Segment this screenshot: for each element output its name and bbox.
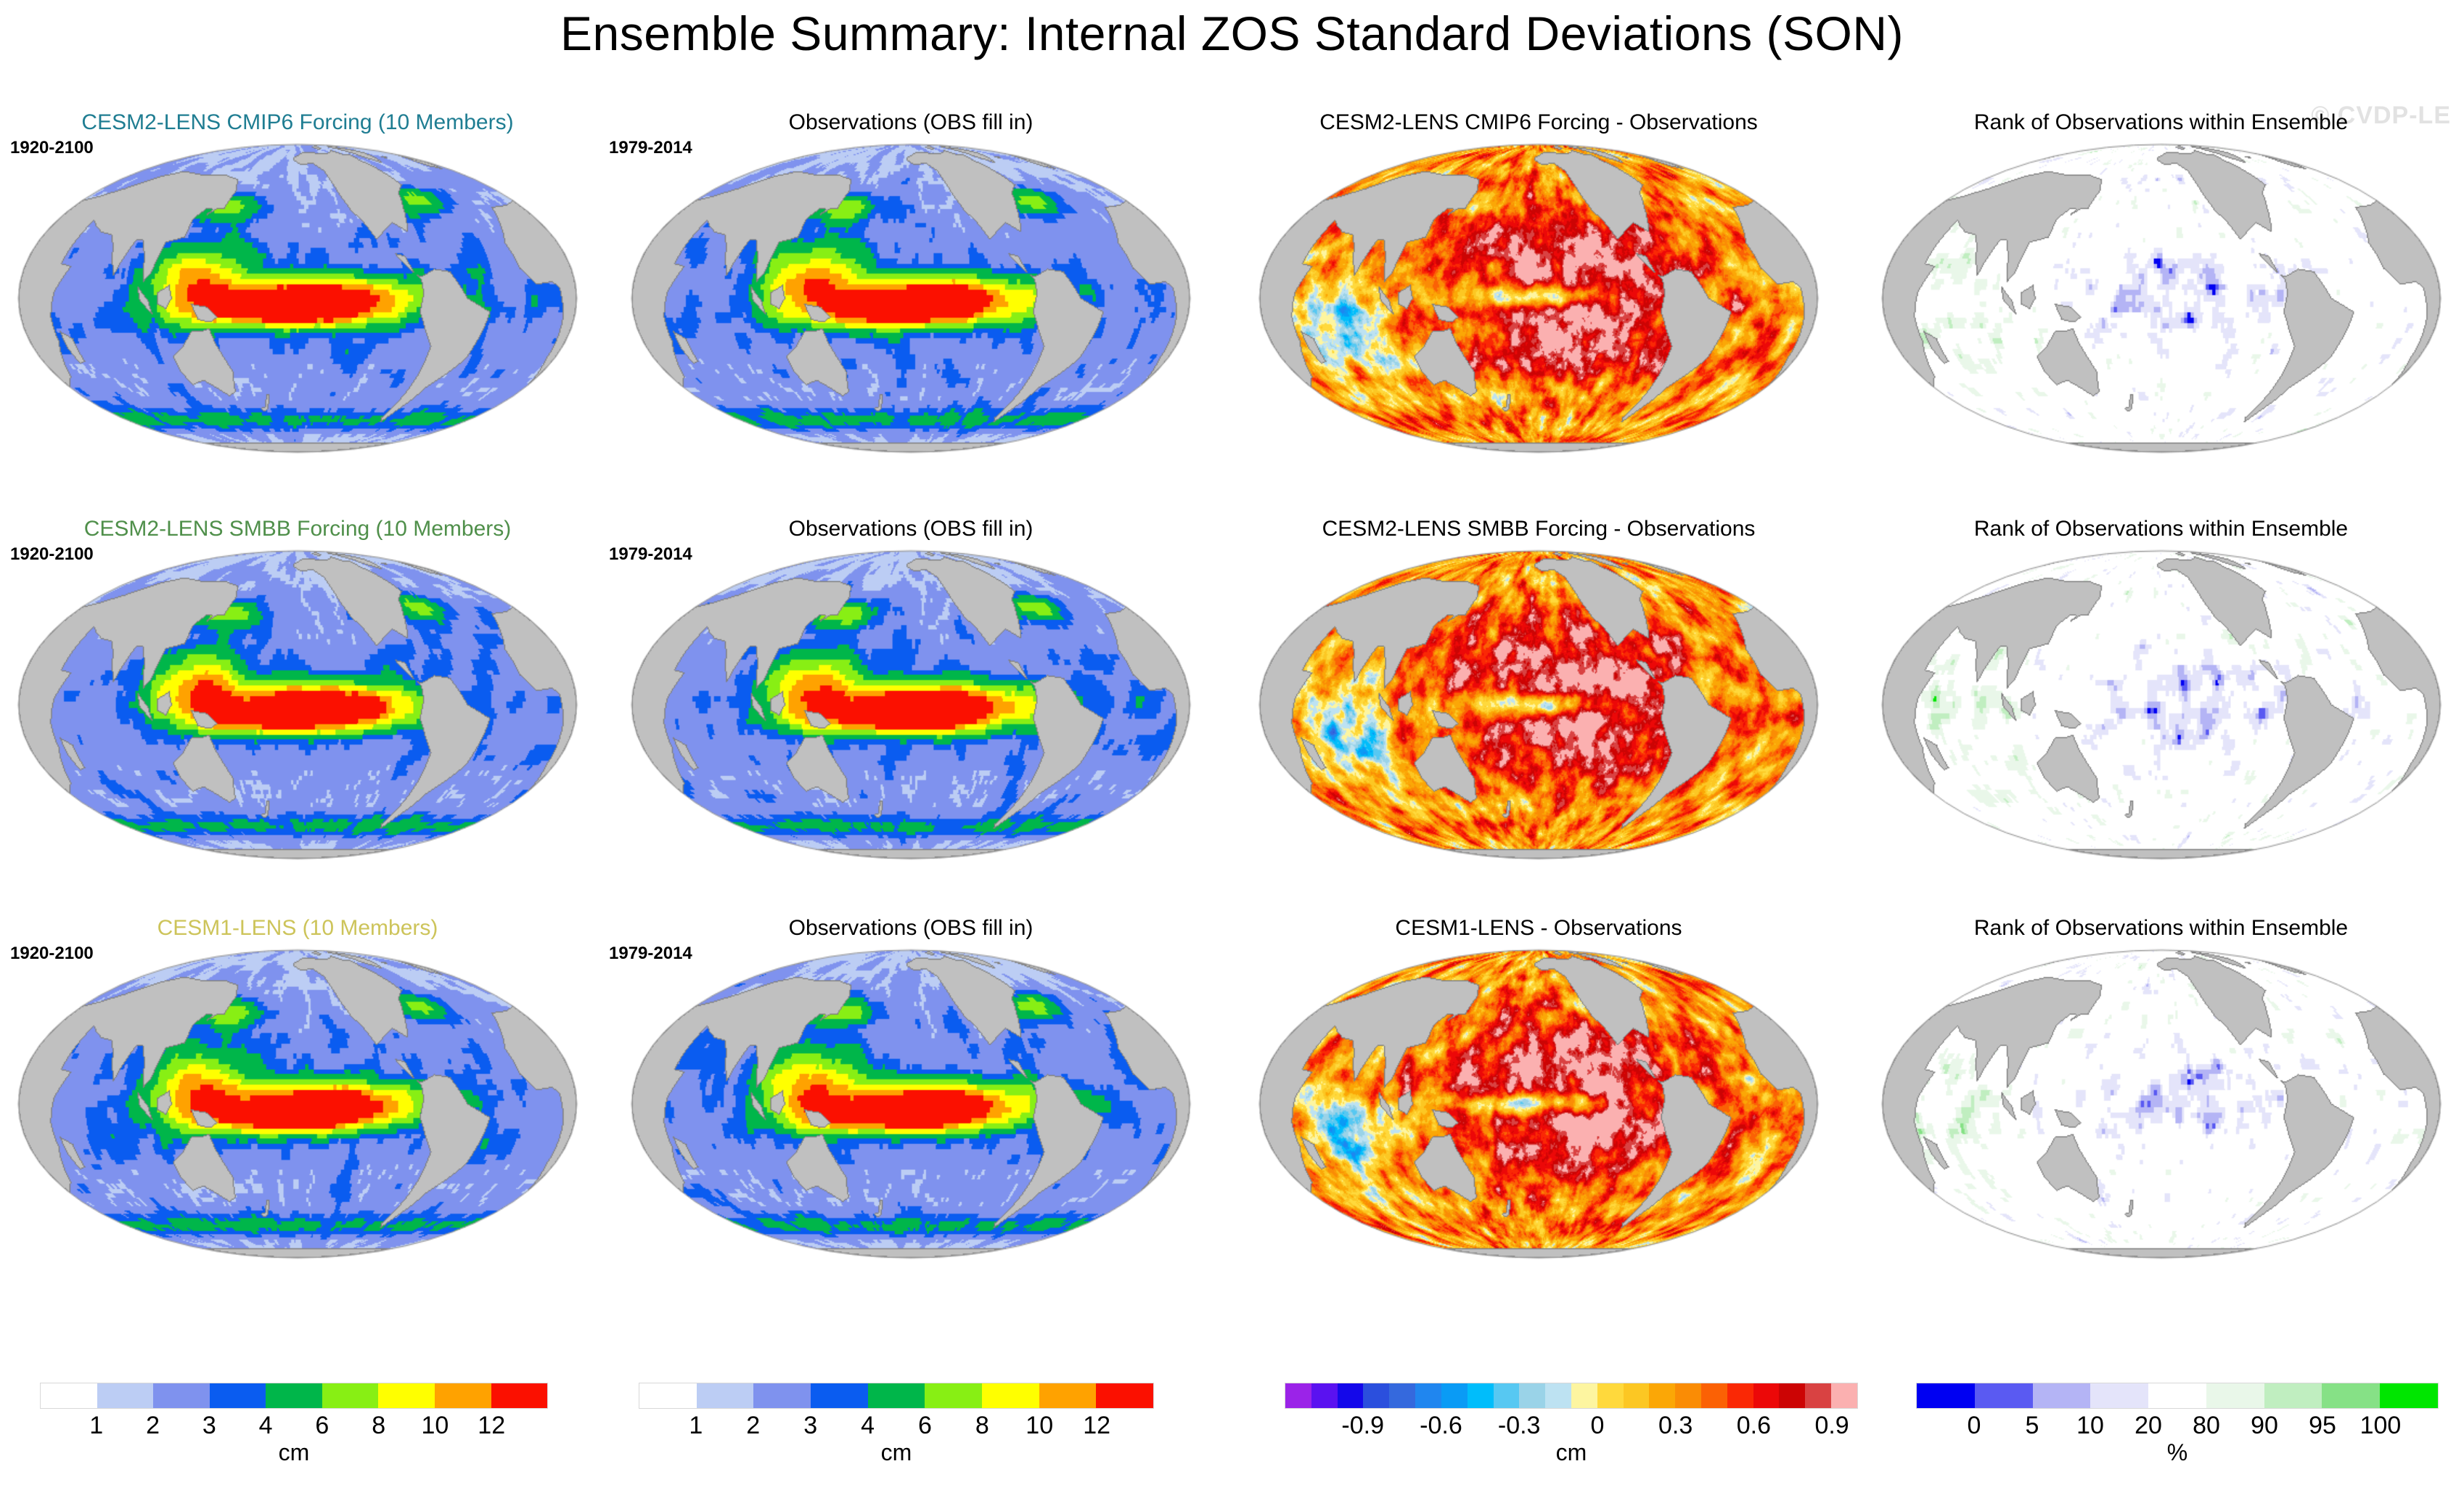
colorbar-tick-label: 0.9 bbox=[1814, 1412, 1849, 1439]
colorbar-swatch bbox=[1805, 1383, 1831, 1408]
colorbar-ticks-std-cmip6: 1234681012 bbox=[40, 1412, 548, 1441]
map-cesm2-cmip6-model bbox=[7, 142, 588, 454]
colorbar-tick-label: 20 bbox=[2134, 1412, 2162, 1439]
colorbar-tick-label: 4 bbox=[259, 1412, 273, 1439]
colorbar-swatch bbox=[1311, 1383, 1338, 1408]
colorbar-swatch bbox=[153, 1383, 210, 1408]
colorbar-swatch bbox=[1779, 1383, 1805, 1408]
colorbar-strip-std-obs bbox=[639, 1383, 1154, 1409]
colorbar-swatch bbox=[811, 1383, 868, 1408]
map-cesm2-cmip6-difference bbox=[1234, 142, 1843, 454]
colorbar-swatch bbox=[1441, 1383, 1468, 1408]
colorbar-swatch bbox=[697, 1383, 754, 1408]
colorbar-tick-label: 0.3 bbox=[1658, 1412, 1693, 1439]
colorbar-swatch bbox=[1415, 1383, 1441, 1408]
colorbar-swatch bbox=[2148, 1383, 2206, 1408]
panel-title-cesm2-smbb-observations: Observations (OBS fill in) bbox=[606, 517, 1216, 541]
panel-title-cesm2-smbb-model: CESM2-LENS SMBB Forcing (10 Members) bbox=[7, 517, 588, 541]
panel-title-cesm2-cmip6-observations: Observations (OBS fill in) bbox=[606, 110, 1216, 135]
colorbar-swatch bbox=[1039, 1383, 1097, 1408]
colorbar-swatch bbox=[868, 1383, 925, 1408]
panel-cesm2-cmip6-rank: Rank of Observations within Ensemble bbox=[1865, 110, 2457, 473]
colorbar-unit-std-obs: cm bbox=[639, 1439, 1154, 1466]
colorbar-strip-diff bbox=[1285, 1383, 1858, 1409]
colorbar-swatch bbox=[378, 1383, 435, 1408]
colorbar-swatch bbox=[1624, 1383, 1650, 1408]
map-cesm1-difference bbox=[1234, 948, 1843, 1260]
colorbar-rank: 051020809095100% bbox=[1916, 1383, 2439, 1477]
colorbar-tick-label: 0.6 bbox=[1737, 1412, 1771, 1439]
colorbar-swatch bbox=[753, 1383, 811, 1408]
globe-canvas-cesm2-smbb-rank bbox=[1880, 549, 2442, 861]
map-cesm2-cmip6-rank bbox=[1865, 142, 2457, 454]
globe-canvas-cesm2-smbb-difference bbox=[1258, 549, 1820, 861]
colorbar-swatch bbox=[1363, 1383, 1389, 1408]
globe-canvas-cesm1-rank bbox=[1880, 948, 2442, 1260]
globe-canvas-cesm1-observations bbox=[630, 948, 1192, 1260]
colorbar-tick-label: 1 bbox=[89, 1412, 103, 1439]
colorbar-swatch bbox=[1831, 1383, 1857, 1408]
panel-cesm2-smbb-rank: Rank of Observations within Ensemble bbox=[1865, 517, 2457, 880]
panel-title-cesm2-smbb-rank: Rank of Observations within Ensemble bbox=[1865, 517, 2457, 541]
panel-cesm2-cmip6-model: CESM2-LENS CMIP6 Forcing (10 Members)192… bbox=[7, 110, 588, 473]
colorbar-swatch bbox=[1753, 1383, 1780, 1408]
panel-cesm2-cmip6-observations: Observations (OBS fill in)1979-2014 bbox=[606, 110, 1216, 473]
panel-cesm1-rank: Rank of Observations within Ensemble bbox=[1865, 916, 2457, 1279]
colorbar-swatch bbox=[435, 1383, 491, 1408]
colorbar-unit-diff: cm bbox=[1285, 1439, 1858, 1466]
colorbar-tick-label: 10 bbox=[2076, 1412, 2104, 1439]
colorbar-swatch bbox=[1285, 1383, 1311, 1408]
colorbar-swatch bbox=[2322, 1383, 2380, 1408]
colorbar-swatch bbox=[1727, 1383, 1753, 1408]
colorbar-tick-label: 8 bbox=[372, 1412, 385, 1439]
colorbar-swatch bbox=[2090, 1383, 2148, 1408]
colorbar-swatch bbox=[1597, 1383, 1624, 1408]
map-cesm1-model bbox=[7, 948, 588, 1260]
panel-title-cesm1-observations: Observations (OBS fill in) bbox=[606, 916, 1216, 941]
colorbar-ticks-rank: 051020809095100 bbox=[1916, 1412, 2439, 1441]
colorbar-tick-label: 80 bbox=[2193, 1412, 2220, 1439]
colorbar-tick-label: 2 bbox=[746, 1412, 760, 1439]
colorbar-swatch bbox=[491, 1383, 548, 1408]
colorbar-swatch bbox=[1975, 1383, 2033, 1408]
colorbar-swatch bbox=[2380, 1383, 2438, 1408]
globe-canvas-cesm2-cmip6-observations bbox=[630, 142, 1192, 454]
colorbar-tick-label: 12 bbox=[1083, 1412, 1110, 1439]
panel-title-cesm1-model: CESM1-LENS (10 Members) bbox=[7, 916, 588, 941]
globe-canvas-cesm1-difference bbox=[1258, 948, 1820, 1260]
colorbar-tick-label: 12 bbox=[478, 1412, 505, 1439]
colorbar-ticks-diff: -0.9-0.6-0.300.30.60.9 bbox=[1285, 1412, 1858, 1441]
colorbar-tick-label: 1 bbox=[689, 1412, 703, 1439]
colorbar-swatch bbox=[2033, 1383, 2091, 1408]
colorbar-swatch bbox=[1519, 1383, 1545, 1408]
colorbar-tick-label: 0 bbox=[1968, 1412, 1981, 1439]
colorbar-swatch bbox=[925, 1383, 982, 1408]
colorbar-swatch bbox=[639, 1383, 697, 1408]
colorbar-swatch bbox=[1649, 1383, 1675, 1408]
colorbar-tick-label: 10 bbox=[1026, 1412, 1053, 1439]
panel-cesm1-model: CESM1-LENS (10 Members)1920-2100 bbox=[7, 916, 588, 1279]
colorbar-tick-label: 3 bbox=[202, 1412, 216, 1439]
panel-title-cesm2-smbb-difference: CESM2-LENS SMBB Forcing - Observations bbox=[1234, 517, 1843, 541]
map-cesm2-smbb-difference bbox=[1234, 549, 1843, 861]
colorbar-std-obs: 1234681012cm bbox=[639, 1383, 1154, 1477]
panel-title-cesm2-cmip6-difference: CESM2-LENS CMIP6 Forcing - Observations bbox=[1234, 110, 1843, 135]
globe-canvas-cesm2-cmip6-rank bbox=[1880, 142, 2442, 454]
panel-title-cesm2-cmip6-model: CESM2-LENS CMIP6 Forcing (10 Members) bbox=[7, 110, 588, 135]
colorbar-tick-label: 2 bbox=[146, 1412, 160, 1439]
globe-canvas-cesm2-cmip6-model bbox=[17, 142, 579, 454]
colorbar-tick-label: 100 bbox=[2360, 1412, 2402, 1439]
colorbar-swatch bbox=[1917, 1383, 1975, 1408]
colorbar-swatch bbox=[1571, 1383, 1597, 1408]
colorbar-tick-label: 95 bbox=[2309, 1412, 2336, 1439]
colorbar-swatch bbox=[322, 1383, 379, 1408]
map-cesm1-rank bbox=[1865, 948, 2457, 1260]
colorbar-std-cmip6: 1234681012cm bbox=[40, 1383, 548, 1477]
panel-title-cesm1-difference: CESM1-LENS - Observations bbox=[1234, 916, 1843, 941]
colorbar-unit-rank: % bbox=[1916, 1439, 2439, 1466]
figure-title: Ensemble Summary: Internal ZOS Standard … bbox=[0, 6, 2464, 61]
map-cesm1-observations bbox=[606, 948, 1216, 1260]
panel-cesm2-smbb-observations: Observations (OBS fill in)1979-2014 bbox=[606, 517, 1216, 880]
colorbar-swatch bbox=[266, 1383, 322, 1408]
colorbar-tick-label: 10 bbox=[422, 1412, 449, 1439]
colorbar-swatch bbox=[982, 1383, 1039, 1408]
colorbar-tick-label: 0 bbox=[1590, 1412, 1604, 1439]
map-cesm2-smbb-observations bbox=[606, 549, 1216, 861]
map-cesm2-smbb-model bbox=[7, 549, 588, 861]
colorbar-swatch bbox=[1494, 1383, 1520, 1408]
colorbar-swatch bbox=[1545, 1383, 1571, 1408]
colorbar-swatch bbox=[210, 1383, 266, 1408]
figure-canvas: Ensemble Summary: Internal ZOS Standard … bbox=[0, 0, 2464, 1485]
colorbar-unit-std-cmip6: cm bbox=[40, 1439, 548, 1466]
colorbar-strip-std-cmip6 bbox=[40, 1383, 548, 1409]
colorbar-tick-label: 4 bbox=[861, 1412, 875, 1439]
panel-title-cesm1-rank: Rank of Observations within Ensemble bbox=[1865, 916, 2457, 941]
panel-title-cesm2-cmip6-rank: Rank of Observations within Ensemble bbox=[1865, 110, 2457, 135]
map-cesm2-smbb-rank bbox=[1865, 549, 2457, 861]
colorbar-swatch bbox=[97, 1383, 154, 1408]
colorbar-tick-label: 6 bbox=[918, 1412, 932, 1439]
colorbar-tick-label: 5 bbox=[2026, 1412, 2039, 1439]
colorbar-diff: -0.9-0.6-0.300.30.60.9cm bbox=[1285, 1383, 1858, 1477]
colorbar-ticks-std-obs: 1234681012 bbox=[639, 1412, 1154, 1441]
panel-cesm1-observations: Observations (OBS fill in)1979-2014 bbox=[606, 916, 1216, 1279]
colorbar-swatch bbox=[1338, 1383, 1364, 1408]
colorbar-tick-label: 6 bbox=[315, 1412, 329, 1439]
colorbar-swatch bbox=[2264, 1383, 2322, 1408]
colorbar-swatch bbox=[1096, 1383, 1153, 1408]
colorbar-swatch bbox=[2206, 1383, 2264, 1408]
colorbar-tick-label: 3 bbox=[803, 1412, 817, 1439]
colorbar-strip-rank bbox=[1916, 1383, 2439, 1409]
map-cesm2-cmip6-observations bbox=[606, 142, 1216, 454]
globe-canvas-cesm2-smbb-model bbox=[17, 549, 579, 861]
globe-canvas-cesm2-smbb-observations bbox=[630, 549, 1192, 861]
colorbar-tick-label: 90 bbox=[2251, 1412, 2278, 1439]
panel-cesm1-difference: CESM1-LENS - Observations bbox=[1234, 916, 1843, 1279]
globe-canvas-cesm2-cmip6-difference bbox=[1258, 142, 1820, 454]
panel-cesm2-smbb-difference: CESM2-LENS SMBB Forcing - Observations bbox=[1234, 517, 1843, 880]
panel-cesm2-smbb-model: CESM2-LENS SMBB Forcing (10 Members)1920… bbox=[7, 517, 588, 880]
colorbar-tick-label: -0.6 bbox=[1420, 1412, 1462, 1439]
colorbar-tick-label: 8 bbox=[975, 1412, 989, 1439]
colorbar-swatch bbox=[1389, 1383, 1415, 1408]
colorbar-swatch bbox=[1468, 1383, 1494, 1408]
colorbar-swatch bbox=[1701, 1383, 1727, 1408]
colorbar-swatch bbox=[41, 1383, 97, 1408]
globe-canvas-cesm1-model bbox=[17, 948, 579, 1260]
colorbar-swatch bbox=[1675, 1383, 1701, 1408]
colorbar-tick-label: -0.3 bbox=[1498, 1412, 1541, 1439]
colorbar-tick-label: -0.9 bbox=[1341, 1412, 1384, 1439]
panel-cesm2-cmip6-difference: CESM2-LENS CMIP6 Forcing - Observations bbox=[1234, 110, 1843, 473]
